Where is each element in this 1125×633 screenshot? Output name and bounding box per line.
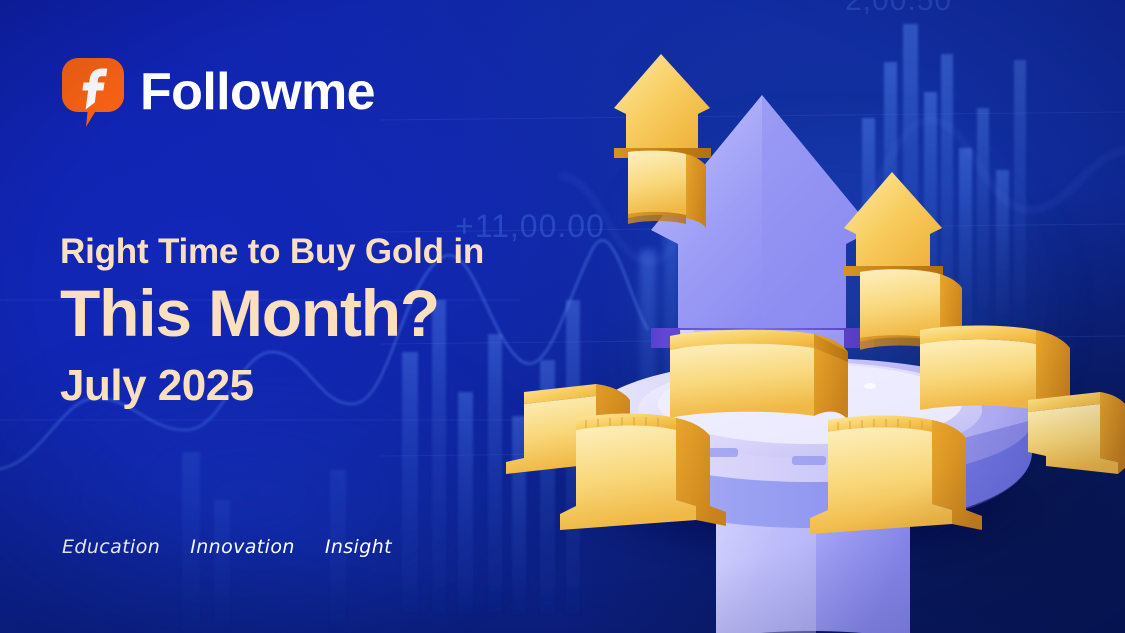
tagline-row: Education Innovation Insight <box>62 536 392 558</box>
illustration-svg <box>480 0 1125 633</box>
hero-illustration <box>480 0 1125 633</box>
gold-bar-side-right <box>1028 392 1125 474</box>
promo-banner: +11,00.00 2,00.50 <box>0 0 1125 633</box>
brand-logo[interactable]: Followme <box>62 56 375 128</box>
tagline-item-education: Education <box>62 536 160 558</box>
hero-text-block: Right Time to Buy Gold in This Month? Ju… <box>60 232 484 410</box>
gold-bar-front-center <box>810 416 982 535</box>
hero-date: July 2025 <box>60 362 484 410</box>
hero-headline: This Month? <box>60 275 484 352</box>
hero-kicker: Right Time to Buy Gold in <box>60 232 484 271</box>
followme-speech-bubble-f-icon <box>62 56 124 128</box>
gold-bar-back-left <box>670 330 848 420</box>
tagline-item-insight: Insight <box>325 536 392 558</box>
tagline-item-innovation: Innovation <box>190 536 295 558</box>
brand-wordmark: Followme <box>140 66 375 118</box>
gold-bar-front-left <box>560 414 726 531</box>
up-arrow-gold-left <box>614 54 711 228</box>
